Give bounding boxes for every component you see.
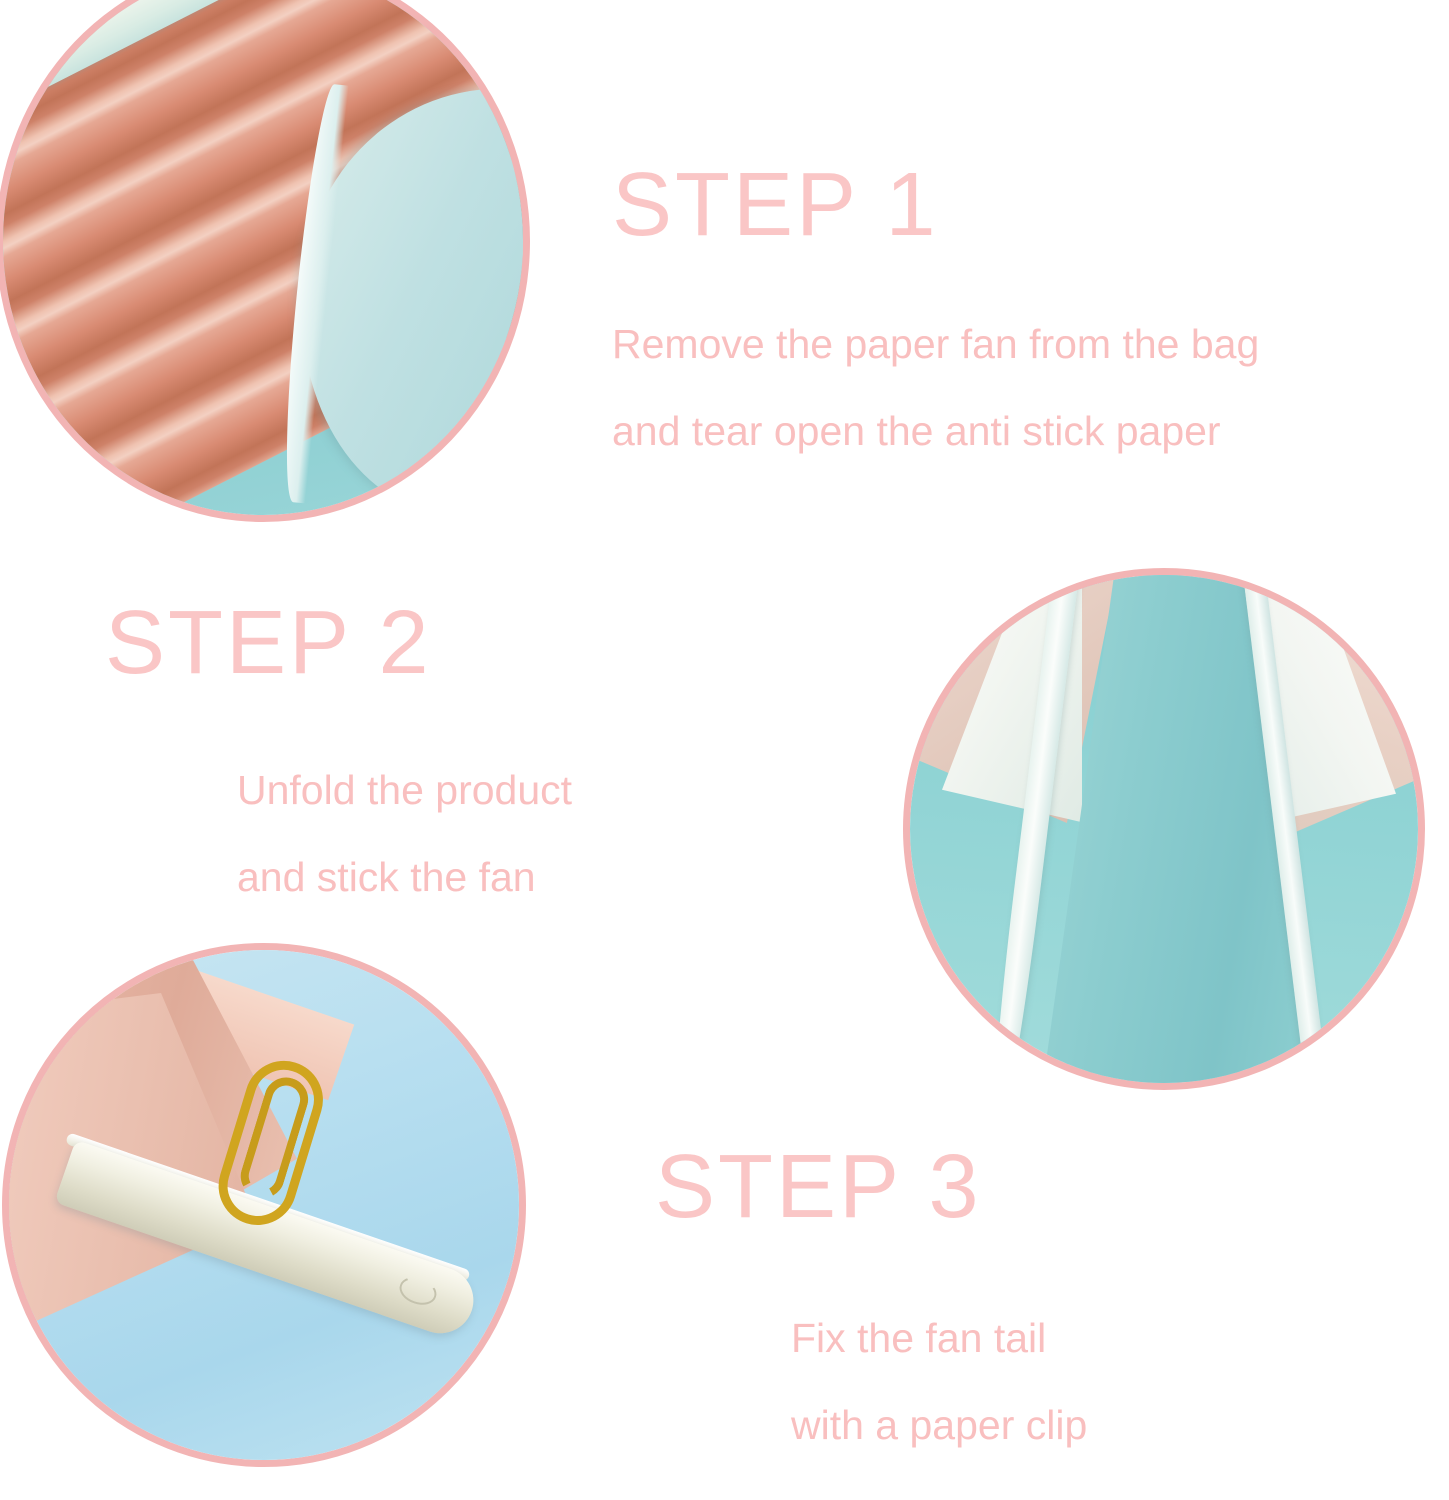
step-1-text-block: STEP 1 Remove the paper fan from the bag… (612, 160, 1259, 452)
step-3-text-block: STEP 3 Fix the fan tail with a paper cli… (655, 1142, 1087, 1446)
step-2-line-1: Unfold the product (237, 770, 572, 811)
photo-unfolded-fan (903, 568, 1425, 1090)
step-2-text-block: STEP 2 Unfold the product and stick the … (105, 598, 572, 898)
photo-2-content (908, 573, 1420, 1085)
step-1-line-2: and tear open the anti stick paper (612, 411, 1259, 452)
photo-3-content (7, 948, 521, 1462)
step-2-line-2: and stick the fan (237, 857, 572, 898)
step-3-line-1: Fix the fan tail (791, 1318, 1087, 1359)
photo-1-content (1, 0, 525, 517)
step-1-description: Remove the paper fan from the bag and te… (612, 324, 1259, 452)
photo-pleated-pink-fan-in-bag (0, 0, 530, 522)
step-2-description: Unfold the product and stick the fan (105, 770, 572, 898)
step-2-title: STEP 2 (105, 598, 572, 690)
instruction-sheet: STEP 1 Remove the paper fan from the bag… (0, 0, 1449, 1500)
step-1-line-1: Remove the paper fan from the bag (612, 324, 1259, 365)
step-1-title: STEP 1 (612, 160, 1259, 252)
step-3-title: STEP 3 (655, 1142, 1087, 1234)
photo-fan-tail-with-paper-clip (2, 943, 526, 1467)
step-3-description: Fix the fan tail with a paper clip (655, 1318, 1087, 1446)
step-3-line-2: with a paper clip (791, 1405, 1087, 1446)
